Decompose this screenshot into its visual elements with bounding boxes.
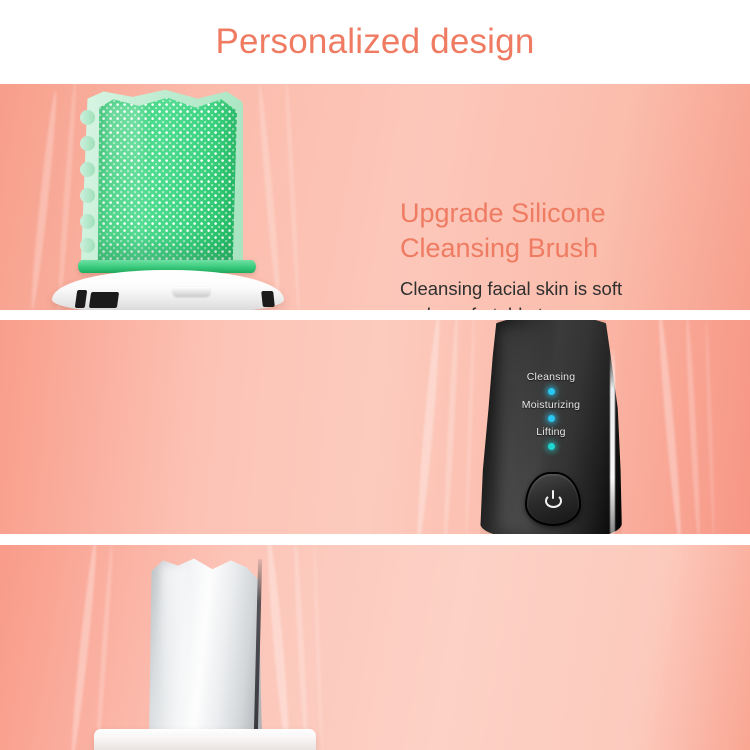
mode-lifting: Lifting bbox=[480, 427, 622, 450]
power-icon bbox=[545, 491, 562, 508]
page-title: Personalized design bbox=[215, 22, 534, 62]
spatula-base bbox=[94, 729, 316, 750]
feature-panel-cleansing-brush: Upgrade Silicone Cleansing Brush Cleansi… bbox=[0, 84, 750, 310]
spatula-blade bbox=[148, 555, 263, 733]
brush-edge-ridge bbox=[80, 162, 95, 177]
device-mode-indicators: Cleansing Moisturizing Lifting bbox=[480, 372, 622, 455]
product-image-steel-spatula bbox=[60, 545, 340, 750]
brush-edge-ridge bbox=[80, 110, 95, 125]
brush-bristle-surface bbox=[95, 96, 237, 262]
page-title-bar: Personalized design bbox=[0, 0, 750, 84]
brush-edge-ridge bbox=[80, 214, 95, 229]
mode-label-cleansing: Cleansing bbox=[480, 372, 622, 384]
feature-panel-curved-edge: Curved edge design More fit to the face,… bbox=[0, 545, 750, 750]
mode-label-moisturizing: Moisturizing bbox=[480, 400, 622, 412]
feature-panel-curved-body: Cleansing Moisturizing Lifting Perfect c… bbox=[0, 320, 750, 534]
brush-edge-ridge bbox=[80, 188, 95, 203]
mode-moisturizing: Moisturizing bbox=[480, 400, 622, 423]
mode-label-lifting: Lifting bbox=[480, 427, 622, 439]
brush-edge-ridge bbox=[80, 238, 95, 253]
mode-led-cleansing bbox=[548, 388, 555, 395]
device-contact-slot bbox=[261, 291, 275, 307]
panel-1-copy: Upgrade Silicone Cleansing Brush Cleansi… bbox=[400, 196, 740, 310]
product-image-cleansing-brush bbox=[40, 84, 300, 310]
brush-head bbox=[87, 92, 242, 264]
product-image-handheld-device: Cleansing Moisturizing Lifting bbox=[432, 320, 682, 534]
mode-cleansing: Cleansing bbox=[480, 372, 622, 395]
infographic-page: Personalized design bbox=[0, 0, 750, 750]
mode-led-moisturizing bbox=[548, 415, 555, 422]
device-head-tab bbox=[173, 287, 210, 296]
mode-led-lifting bbox=[548, 443, 555, 450]
panel-1-subcopy: Cleansing facial skin is soft and comfor… bbox=[400, 276, 740, 310]
power-button bbox=[525, 472, 581, 526]
panel-1-headline: Upgrade Silicone Cleansing Brush bbox=[400, 196, 740, 266]
device-contact-slot bbox=[89, 292, 119, 308]
brush-edge-ridge bbox=[80, 136, 95, 151]
